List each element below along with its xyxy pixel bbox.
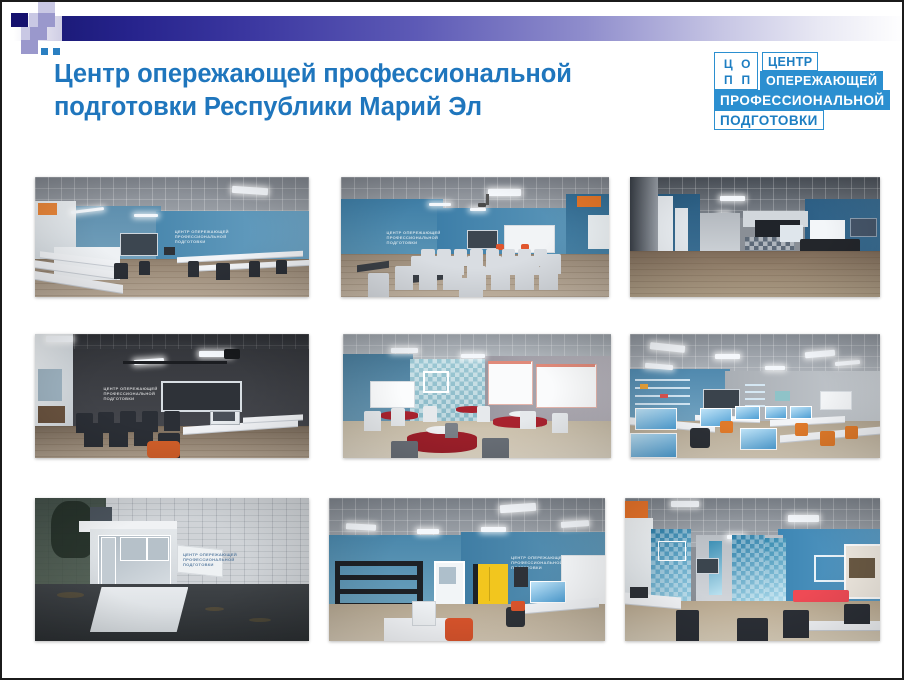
gallery-image-4[interactable]: ЦЕНТР ОПЕРЕЖАЮЩЕЙПРОФЕССИОНАЛЬНОЙПОДГОТО…: [35, 334, 309, 458]
logo-monogram-letter: П: [720, 73, 737, 88]
gallery-image-3[interactable]: [630, 177, 880, 297]
gallery-image-1[interactable]: ЦЕНТР ОПЕРЕЖАЮЩЕЙПРОФЕССИОНАЛЬНОЙПОДГОТО…: [35, 177, 309, 297]
gallery-image-5[interactable]: [343, 334, 611, 458]
deco-square-navy: [11, 13, 28, 27]
header-gradient-bar: [62, 16, 904, 41]
deco-square: [21, 40, 38, 54]
logo-text-line-3: ПРОФЕССИОНАЛЬНОЙ: [714, 90, 890, 110]
logo-text-line-4: ПОДГОТОВКИ: [714, 110, 824, 130]
logo-monogram: Ц О П П: [714, 52, 758, 90]
logo-monogram-letter: П: [738, 73, 755, 88]
presentation-slide: Центр опережающей профессиональной подго…: [0, 0, 904, 680]
gallery-image-8[interactable]: ЦЕНТР ОПЕРЕЖАЮЩЕЙПРОФЕССИОНАЛЬНОЙПОДГОТО…: [329, 498, 605, 641]
deco-square: [30, 27, 47, 40]
deco-dot: [53, 48, 60, 55]
gallery-image-9[interactable]: [625, 498, 880, 641]
deco-square: [38, 13, 55, 27]
logo-text-line-2: ОПЕРЕЖАЮЩЕЙ: [760, 71, 883, 90]
title-line-2: подготовки Республики Марий Эл: [54, 91, 694, 124]
page-title: Центр опережающей профессиональной подго…: [54, 58, 694, 123]
logo-monogram-letter: Ц: [720, 57, 737, 72]
header-decoration: [2, 2, 904, 48]
gallery-image-6[interactable]: [630, 334, 880, 458]
gallery-image-7[interactable]: ЦЕНТР ОПЕРЕЖАЮЩЕЙПРОФЕССИОНАЛЬНОЙПОДГОТО…: [35, 498, 309, 641]
gallery-image-2[interactable]: ЦЕНТР ОПЕРЕЖАЮЩЕЙПРОФЕССИОНАЛЬНОЙПОДГОТО…: [341, 177, 609, 297]
logo-text-line-1: ЦЕНТР: [762, 52, 818, 71]
copp-logo: Ц О П П ЦЕНТР ОПЕРЕЖАЮЩЕЙ ПРОФЕССИОНАЛЬН…: [712, 48, 876, 134]
logo-monogram-letter: О: [738, 57, 755, 72]
deco-dot: [41, 48, 48, 55]
title-line-1: Центр опережающей профессиональной: [54, 58, 694, 91]
